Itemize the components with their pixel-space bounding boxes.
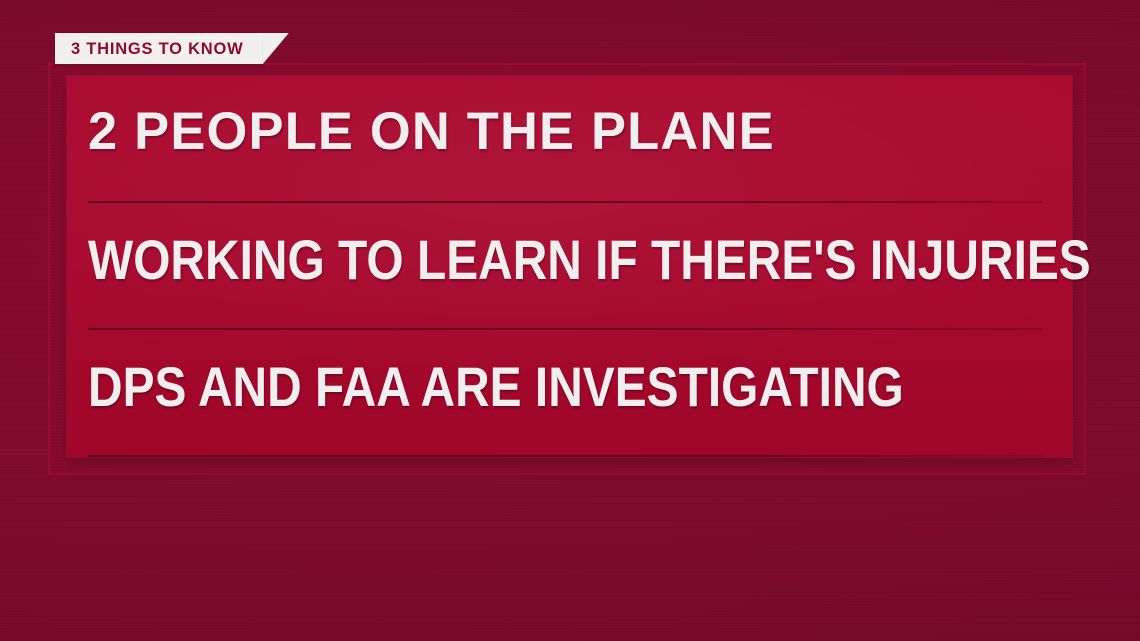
list-item: 2 PEOPLE ON THE PLANE bbox=[88, 76, 1050, 203]
headline-line-3: DPS AND FAA ARE INVESTIGATING bbox=[88, 358, 911, 429]
headline-list: 2 PEOPLE ON THE PLANE WORKING TO LEARN I… bbox=[88, 76, 1050, 457]
kicker-banner: 3 THINGS TO KNOW bbox=[55, 33, 289, 64]
headline-line-2: WORKING TO LEARN IF THERE'S INJURIES bbox=[88, 231, 911, 302]
list-item: DPS AND FAA ARE INVESTIGATING bbox=[88, 330, 1050, 457]
kicker-banner-body: 3 THINGS TO KNOW bbox=[55, 33, 263, 64]
broadcast-graphic: 3 THINGS TO KNOW 2 PEOPLE ON THE PLANE W… bbox=[0, 0, 1140, 641]
kicker-banner-wedge bbox=[263, 33, 289, 64]
headline-line-1: 2 PEOPLE ON THE PLANE bbox=[88, 105, 1040, 173]
kicker-label: 3 THINGS TO KNOW bbox=[71, 40, 243, 57]
list-item: WORKING TO LEARN IF THERE'S INJURIES bbox=[88, 203, 1050, 330]
divider-3 bbox=[88, 455, 1043, 457]
